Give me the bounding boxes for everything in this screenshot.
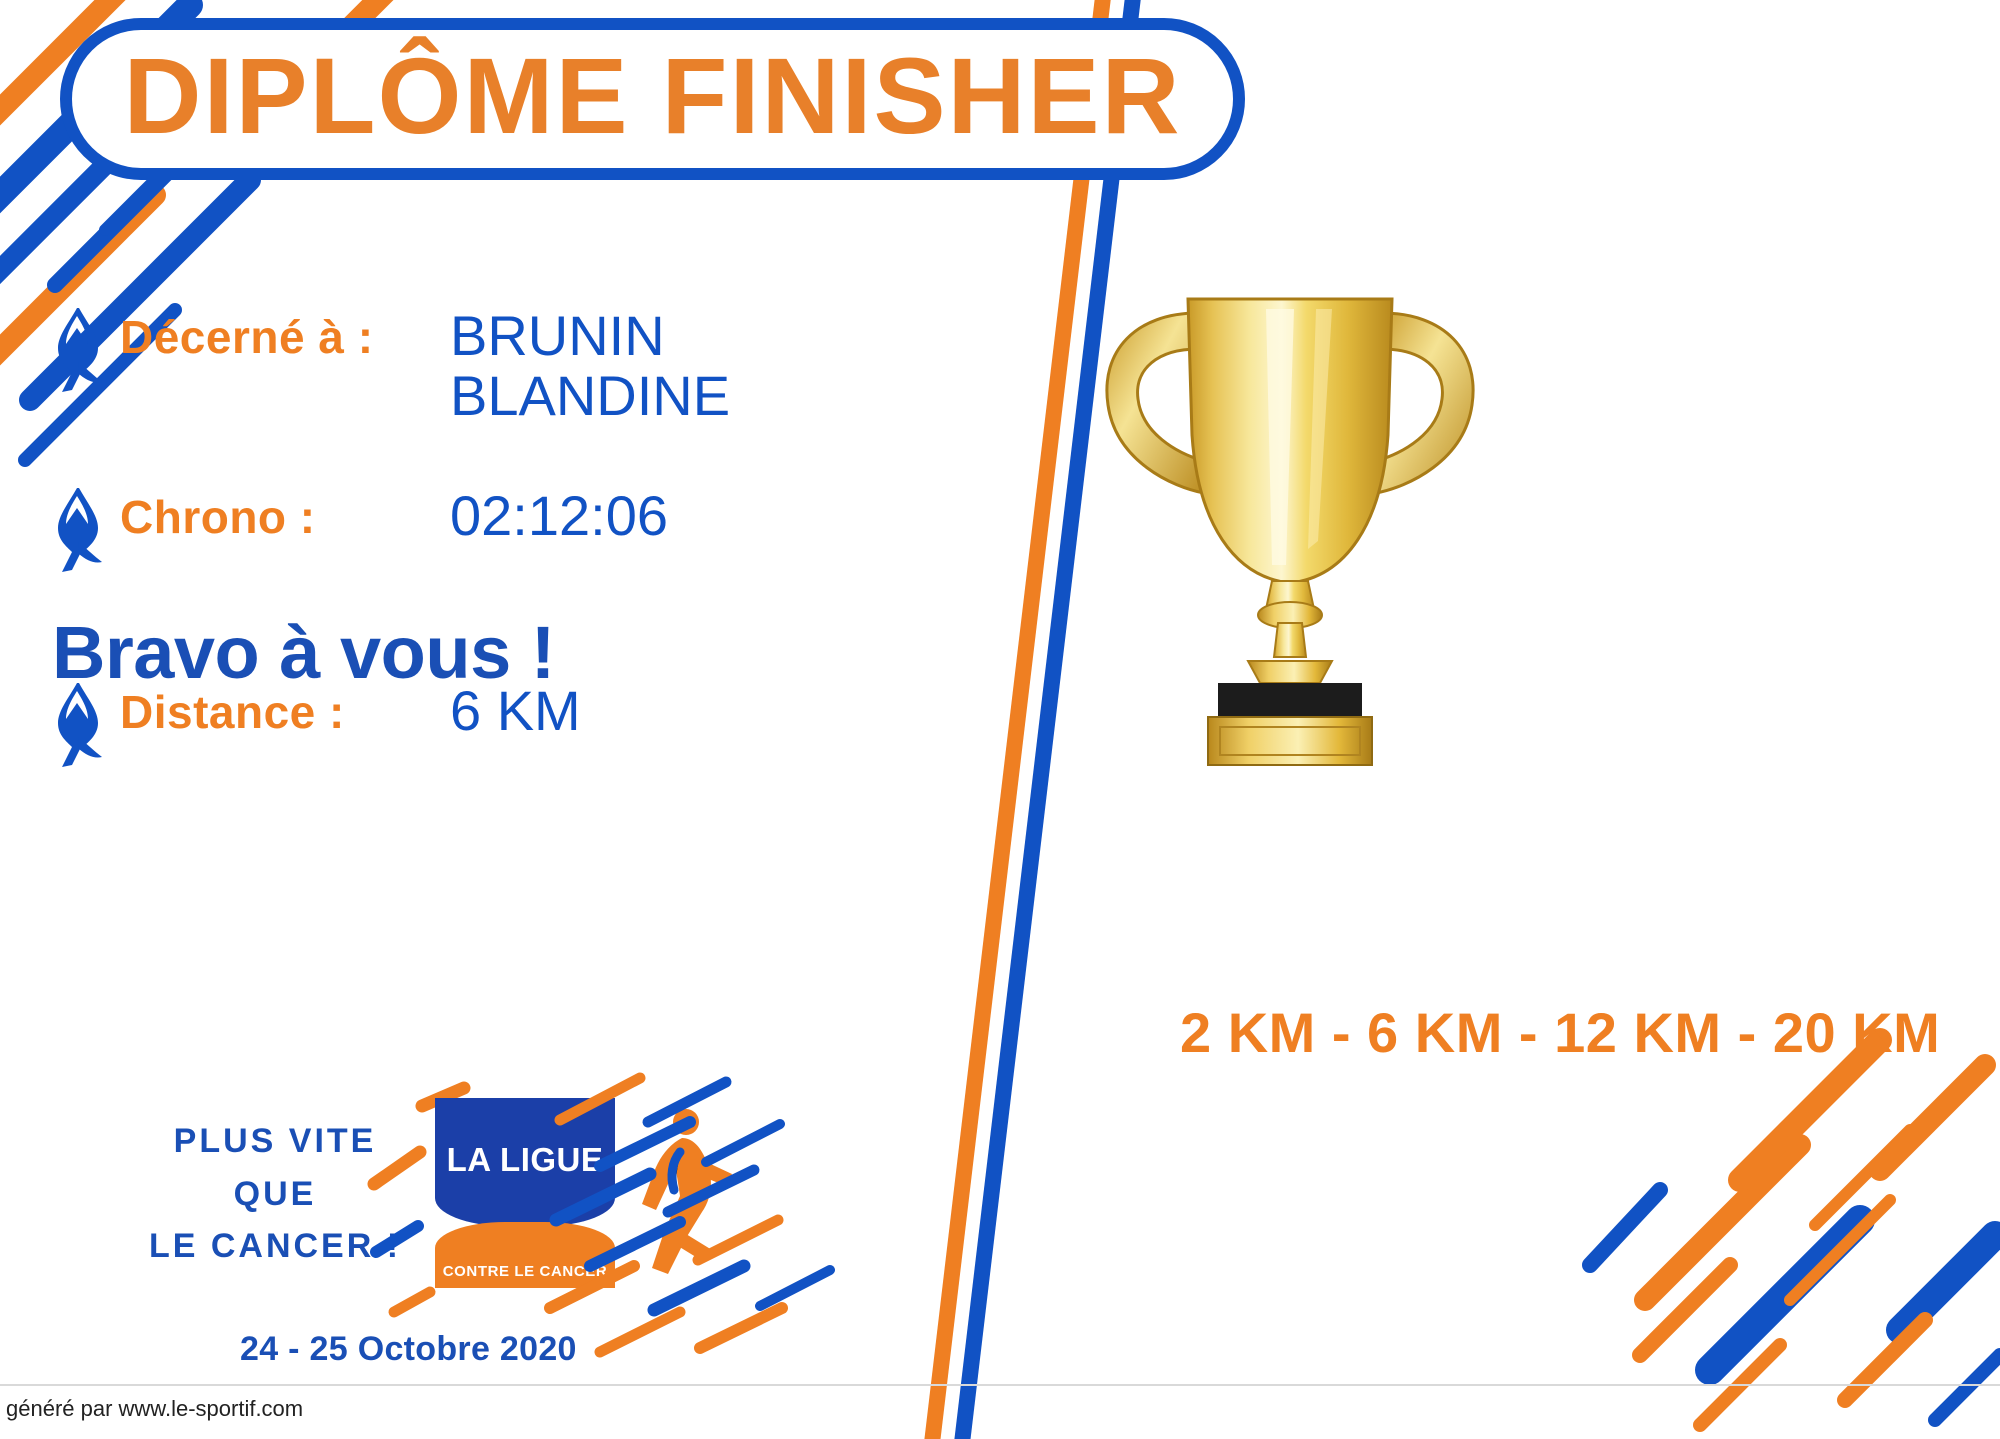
motion-stripes (530, 1070, 890, 1370)
event-date: 24 - 25 Octobre 2020 (240, 1330, 577, 1369)
footer-divider (0, 1384, 2000, 1386)
distance-options-text: 2 KM - 6 KM - 12 KM - 20 KM (1180, 1000, 1940, 1065)
detail-row-chrono: Chrono : 02:12:06 (48, 480, 668, 574)
detail-value-awarded: BRUNIN BLANDINE (450, 306, 730, 427)
detail-row-awarded: Décerné à : BRUNIN BLANDINE (48, 300, 730, 427)
detail-value-distance: 6 KM (450, 681, 581, 741)
detail-label-chrono: Chrono : (120, 494, 450, 540)
trophy-icon (1080, 265, 1500, 785)
detail-label-distance: Distance : (120, 689, 450, 735)
footer-credit: généré par www.le-sportif.com (6, 1396, 303, 1422)
detail-row-distance: Distance : 6 KM (48, 675, 581, 769)
awareness-ribbon-icon (48, 677, 106, 769)
page-title: DIPLÔME FINISHER (123, 42, 1181, 156)
detail-value-chrono: 02:12:06 (450, 486, 668, 546)
awareness-ribbon-icon (48, 302, 106, 394)
detail-label-awarded: Décerné à : (120, 314, 450, 360)
certificate-title-pill: DIPLÔME FINISHER (60, 18, 1245, 180)
awareness-ribbon-icon (48, 482, 106, 574)
certificate-canvas: DIPLÔME FINISHER Décerné à : BRUNIN BLAN… (0, 0, 2000, 1439)
event-logo-lockup: PLUS VITE QUE LE CANCER ! LA LIGUE CONTR… (60, 1080, 880, 1400)
